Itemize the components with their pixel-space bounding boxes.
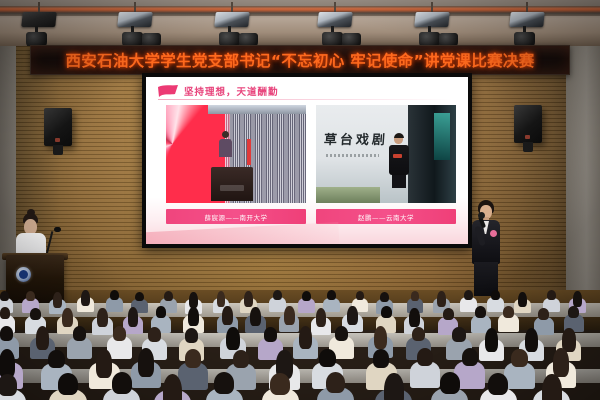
stage-truss-strip — [208, 105, 306, 114]
red-flag-icon — [158, 85, 178, 98]
speaker-mount — [53, 145, 63, 155]
calligraphy-subtext — [326, 154, 379, 157]
audience-member-head — [110, 290, 119, 300]
audience-member-head — [148, 327, 161, 342]
speaker-led-icon — [525, 135, 530, 139]
audience-member-head — [81, 290, 90, 306]
light-body — [414, 12, 450, 27]
audience-member-head — [156, 306, 167, 318]
figure-torso — [219, 139, 232, 157]
audience-member-head — [189, 292, 198, 308]
audience-member-head — [96, 349, 112, 378]
audience-member-head — [542, 374, 562, 400]
event-led-banner: 西安石油大学学生党支部书记“不忘初心 牢记使命”讲党课比赛决赛 — [30, 45, 570, 75]
audience-member-head — [217, 291, 226, 307]
audience-member-head — [214, 372, 234, 394]
light-body — [214, 12, 250, 27]
audience-member-head — [113, 326, 126, 341]
figure-body — [389, 145, 409, 175]
audience-member-head — [547, 290, 556, 300]
photo-caption-1: 薛宸源——南开大学 — [166, 209, 306, 224]
audience-member-head — [97, 308, 108, 327]
audience-member-head — [553, 348, 569, 377]
light-body — [21, 12, 57, 27]
audience-member-head — [488, 373, 508, 395]
slide-header: 坚持理想，天道酬勤 — [158, 84, 279, 98]
speaker-led-icon — [55, 138, 60, 142]
audience-member-head — [411, 291, 420, 301]
audience-member-head — [538, 308, 549, 320]
audience-member-head — [380, 292, 389, 302]
slide-caption-row: 薛宸源——南开大学 赵鹏——云南大学 — [166, 209, 456, 224]
audience-member-head — [250, 307, 261, 326]
university-crest-icon — [16, 267, 31, 282]
audience-member-head — [233, 350, 249, 368]
figure-head — [222, 131, 229, 138]
light-body — [317, 12, 353, 27]
audience-member-head — [112, 372, 132, 394]
audience-member-head — [26, 291, 35, 301]
audience-member-head — [48, 350, 64, 368]
audience-member-head — [511, 349, 527, 367]
audience-member-head — [73, 326, 86, 341]
audience-member-head — [440, 372, 460, 394]
lecture-hall-photo: 西安石油大学学生党支部书记“不忘初心 牢记使命”讲党课比赛决赛 坚持理想，天道酬… — [0, 0, 600, 400]
podium-microphone-icon — [54, 227, 61, 232]
audience-member-head — [464, 290, 473, 300]
red-banner-strip — [247, 139, 251, 165]
audience-member-head — [356, 291, 365, 301]
foliage-foreground — [316, 187, 380, 203]
light-body — [117, 12, 153, 27]
audience-member-head — [0, 374, 17, 396]
audience-member-head — [30, 308, 41, 320]
figure-legs — [392, 175, 406, 188]
audience-member-head — [335, 326, 348, 341]
audience-member-head — [462, 348, 478, 366]
figure-hair — [394, 133, 404, 138]
audience-member-head — [384, 373, 404, 400]
audience-member-head — [264, 327, 277, 342]
projection-screen: 坚持理想，天道酬勤 — [142, 73, 472, 248]
audience-member-head — [0, 291, 9, 301]
photo-caption-2: 赵鹏——云南大学 — [316, 209, 456, 224]
audience-member-head — [409, 308, 420, 327]
calligraphy-text: 草台戏剧 — [324, 129, 389, 148]
audience-member-head — [443, 308, 454, 320]
audience-member-head — [36, 326, 49, 350]
audience-member-head — [62, 308, 73, 327]
audience-member-head — [518, 292, 527, 308]
audience-member-head — [244, 291, 253, 307]
slide-title-divider — [158, 99, 452, 100]
audience-member-head — [135, 292, 144, 302]
audience-member-head — [374, 326, 387, 350]
audience-member-head — [270, 373, 290, 395]
stage-light-1 — [22, 12, 56, 27]
audience-area — [0, 285, 600, 400]
podium-speech-photo — [166, 105, 306, 203]
podium-plaque — [220, 185, 244, 191]
audience-member-head — [53, 292, 62, 308]
slide-photo-row: 草台戏剧 — [166, 105, 456, 203]
audience-member-head — [417, 348, 433, 366]
audience-member-head — [475, 306, 486, 318]
audience-member-head — [58, 373, 78, 395]
teal-light-panel — [434, 113, 451, 160]
audience-member-head — [299, 326, 312, 350]
audience-member-head — [226, 327, 239, 351]
audience-member-head — [164, 291, 173, 301]
light-body — [509, 12, 545, 27]
stage-light-4 — [318, 12, 352, 27]
photo-podium — [211, 167, 253, 201]
audience-member-head — [503, 306, 514, 318]
audience-member-head — [0, 307, 10, 319]
audience-member-head — [381, 306, 392, 318]
audience-member-head — [347, 306, 358, 325]
jacket-logo-icon — [393, 154, 402, 158]
stage-light-5 — [415, 12, 449, 27]
audience-member-head — [412, 327, 425, 342]
audience-member-head — [568, 306, 579, 318]
audience-member-head — [491, 290, 500, 300]
wall-side-panel-right — [566, 46, 600, 306]
event-banner-text: 西安石油大学学生党支部书记“不忘初心 牢记使命”讲党课比赛决赛 — [65, 49, 534, 71]
speaker-mount — [523, 142, 533, 152]
stage-light-2 — [118, 12, 152, 27]
audience-member-head — [373, 349, 389, 367]
audience-member-head — [185, 349, 201, 367]
slide-title: 坚持理想，天道酬勤 — [184, 84, 279, 98]
audience-member-head — [452, 327, 465, 342]
audience-member-head — [319, 349, 335, 367]
wall-speaker-left — [44, 108, 72, 146]
photo-caption-1-text: 薛宸源——南开大学 — [205, 212, 268, 222]
audience-member-head — [326, 372, 346, 394]
audience-member-head — [188, 307, 199, 326]
audience-member-head — [302, 291, 311, 301]
pink-corsage-icon — [490, 230, 497, 237]
stage-light-6 — [510, 12, 544, 27]
photo-caption-2-text: 赵鹏——云南大学 — [358, 212, 414, 222]
audience-member-head — [128, 307, 139, 326]
audience-member-head — [485, 328, 498, 352]
presentation-slide: 坚持理想，天道酬勤 — [146, 77, 468, 244]
audience-member-head — [284, 306, 295, 325]
audience-member-head — [0, 326, 13, 341]
audience-member-head — [138, 348, 154, 377]
photo-standing-figure — [389, 134, 409, 186]
audience-member-head — [273, 290, 282, 300]
stage-light-3 — [215, 12, 249, 27]
audience-member-head — [573, 291, 582, 307]
microphone-head-icon — [478, 212, 485, 219]
audience-member-head — [327, 290, 336, 300]
audience-member-head — [525, 328, 538, 352]
photo-speaker-figure — [219, 131, 232, 157]
audience-member-head — [185, 328, 198, 343]
wall-speaker-right — [514, 105, 542, 143]
audience-member-head — [222, 306, 233, 325]
audience-member-head — [316, 308, 327, 327]
calligraphy-backdrop-photo: 草台戏剧 — [316, 105, 456, 203]
audience-member-head — [437, 291, 446, 307]
